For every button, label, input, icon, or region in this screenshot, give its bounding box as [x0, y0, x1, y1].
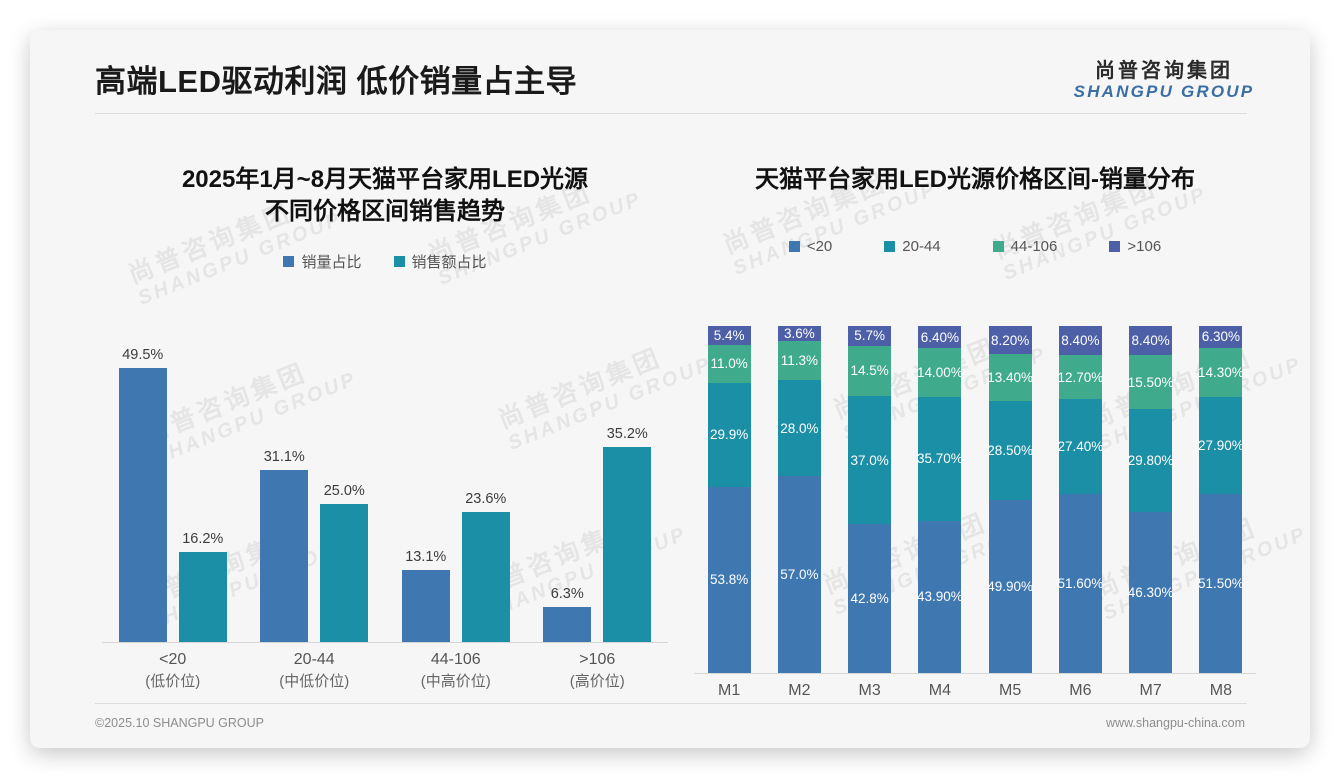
stacked-bar-column: 5.7%14.5%37.0%42.8%	[835, 326, 905, 673]
bar-column: 35.2%	[603, 338, 651, 642]
stacked-segment-<20[interactable]: 53.8%	[708, 487, 751, 674]
legend-swatch-icon	[283, 256, 294, 267]
stacked-bar[interactable]: 3.6%11.3%28.0%57.0%	[778, 326, 821, 673]
bar-销量占比[interactable]	[119, 368, 167, 642]
x-axis-label: M6	[1045, 682, 1115, 700]
left-chart-x-axis-labels: <20(低价位)20-44(中低价位)44-106(中高价位)>106(高价位)	[102, 648, 668, 693]
left-chart-title: 2025年1月~8月天猫平台家用LED光源 不同价格区间销售趋势	[80, 148, 690, 229]
stacked-bar[interactable]: 8.40%12.70%27.40%51.60%	[1059, 326, 1102, 673]
bar-value-label: 13.1%	[405, 549, 446, 565]
stacked-segment->106[interactable]: 5.4%	[708, 326, 751, 345]
stacked-bar-column: 6.40%14.00%35.70%43.90%	[905, 326, 975, 673]
segment-value-label: 37.0%	[850, 453, 888, 468]
x-axis-label: 44-106(中高价位)	[385, 648, 527, 693]
x-axis-label: <20(低价位)	[102, 648, 244, 693]
segment-value-label: 51.60%	[1057, 576, 1103, 591]
right-legend-item-1[interactable]: 20-44	[884, 238, 940, 255]
stacked-segment-20-44[interactable]: 29.9%	[708, 383, 751, 487]
footer-divider	[95, 703, 1247, 704]
x-axis-sublabel: (低价位)	[102, 671, 244, 693]
bar-column: 13.1%	[402, 338, 450, 642]
segment-value-label: 3.6%	[784, 326, 815, 341]
left-legend-item-0[interactable]: 销量占比	[283, 251, 361, 272]
bar-销售额占比[interactable]	[462, 512, 510, 642]
stacked-segment-44-106[interactable]: 14.30%	[1199, 348, 1242, 398]
bar-value-label: 25.0%	[324, 483, 365, 499]
segment-value-label: 28.50%	[987, 443, 1033, 458]
stacked-segment-<20[interactable]: 42.8%	[848, 524, 891, 673]
stacked-bar[interactable]: 5.7%14.5%37.0%42.8%	[848, 326, 891, 673]
logo-chinese-text: 尚普咨询集团	[1064, 60, 1264, 82]
stacked-segment->106[interactable]: 3.6%	[778, 326, 821, 341]
bar-value-label: 31.1%	[264, 449, 305, 465]
stacked-segment-44-106[interactable]: 15.50%	[1129, 355, 1172, 409]
bar-value-label: 35.2%	[607, 426, 648, 442]
stacked-bar[interactable]: 5.4%11.0%29.9%53.8%	[708, 326, 751, 673]
legend-label: 销售额占比	[412, 251, 487, 272]
segment-value-label: 57.0%	[780, 567, 818, 582]
segment-value-label: 29.9%	[710, 427, 748, 442]
left-chart-legend: 销量占比销售额占比	[80, 251, 690, 272]
right-legend-item-2[interactable]: 44-106	[993, 238, 1058, 255]
stacked-bar-column: 5.4%11.0%29.9%53.8%	[694, 326, 764, 673]
bar-value-label: 6.3%	[551, 586, 584, 602]
segment-value-label: 28.0%	[780, 421, 818, 436]
stacked-segment-20-44[interactable]: 37.0%	[848, 396, 891, 524]
legend-label: <20	[807, 238, 832, 255]
segment-value-label: 6.40%	[921, 330, 959, 345]
segment-value-label: 8.20%	[991, 333, 1029, 348]
legend-swatch-icon	[884, 241, 895, 252]
segment-value-label: 14.5%	[850, 363, 888, 378]
legend-label: >106	[1127, 238, 1161, 255]
stacked-bar[interactable]: 8.40%15.50%29.80%46.30%	[1129, 326, 1172, 673]
segment-value-label: 8.40%	[1061, 333, 1099, 348]
bar-group: 49.5%16.2%	[102, 338, 244, 642]
stacked-bar[interactable]: 6.30%14.30%27.90%51.50%	[1199, 326, 1242, 673]
x-axis-sublabel: (高价位)	[527, 671, 669, 693]
legend-swatch-icon	[993, 241, 1004, 252]
stacked-segment-44-106[interactable]: 13.40%	[989, 354, 1032, 401]
segment-value-label: 5.4%	[714, 328, 745, 343]
page-title: 高端LED驱动利润 低价销量占主导	[95, 56, 577, 101]
legend-swatch-icon	[1109, 241, 1120, 252]
right-chart-legend: <2020-4444-106>106	[680, 238, 1270, 255]
x-axis-label: M5	[975, 682, 1045, 700]
grouped-bar-chart: 49.5%16.2%31.1%25.0%13.1%23.6%6.3%35.2%	[102, 338, 668, 643]
x-axis-sublabel: (中高价位)	[385, 671, 527, 693]
legend-swatch-icon	[789, 241, 800, 252]
segment-value-label: 42.8%	[850, 591, 888, 606]
x-axis-label: M3	[835, 682, 905, 700]
bar-销售额占比[interactable]	[320, 504, 368, 642]
stacked-bar-column: 8.20%13.40%28.50%49.90%	[975, 326, 1045, 673]
segment-value-label: 46.30%	[1128, 585, 1174, 600]
left-chart-title-line2: 不同价格区间销售趋势	[80, 196, 690, 228]
stacked-segment->106[interactable]: 5.7%	[848, 326, 891, 346]
stacked-bar-chart: 5.4%11.0%29.9%53.8%3.6%11.3%28.0%57.0%5.…	[694, 326, 1256, 674]
bar-column: 16.2%	[179, 338, 227, 642]
segment-value-label: 6.30%	[1202, 329, 1240, 344]
segment-value-label: 27.90%	[1198, 438, 1244, 453]
footer-website: www.shangpu-china.com	[1106, 716, 1245, 730]
bar-value-label: 49.5%	[122, 347, 163, 363]
x-axis-label: >106(高价位)	[527, 648, 669, 693]
stacked-segment-44-106[interactable]: 11.0%	[708, 345, 751, 383]
x-axis-label: M4	[905, 682, 975, 700]
bar-column: 23.6%	[462, 338, 510, 642]
bar-销量占比[interactable]	[402, 570, 450, 642]
stacked-bar[interactable]: 6.40%14.00%35.70%43.90%	[918, 326, 961, 673]
stacked-bar-column: 8.40%15.50%29.80%46.30%	[1116, 326, 1186, 673]
stacked-segment-<20[interactable]: 46.30%	[1129, 512, 1172, 673]
stacked-segment-<20[interactable]: 43.90%	[918, 521, 961, 673]
stacked-segment-44-106[interactable]: 14.00%	[918, 348, 961, 397]
bar-group: 31.1%25.0%	[244, 338, 386, 642]
segment-value-label: 11.3%	[781, 353, 818, 368]
stacked-segment->106[interactable]: 8.40%	[1129, 326, 1172, 355]
x-axis-line	[102, 642, 668, 643]
slide-header: 高端LED驱动利润 低价销量占主导 尚普咨询集团 SHANGPU GROUP	[30, 30, 1310, 118]
left-legend-item-1[interactable]: 销售额占比	[394, 251, 487, 272]
stacked-segment-20-44[interactable]: 35.70%	[918, 397, 961, 521]
bar-column: 6.3%	[543, 338, 591, 642]
stacked-segment-20-44[interactable]: 28.50%	[989, 401, 1032, 500]
stacked-segment->106[interactable]: 6.40%	[918, 326, 961, 348]
stacked-bar[interactable]: 8.20%13.40%28.50%49.90%	[989, 326, 1032, 673]
segment-value-label: 14.30%	[1198, 365, 1244, 380]
stacked-segment-44-106[interactable]: 14.5%	[848, 346, 891, 396]
stacked-segment-44-106[interactable]: 12.70%	[1059, 355, 1102, 399]
stacked-segment->106[interactable]: 6.30%	[1199, 326, 1242, 348]
stacked-segment-<20[interactable]: 49.90%	[989, 500, 1032, 673]
bar-column: 31.1%	[260, 338, 308, 642]
legend-label: 44-106	[1011, 238, 1058, 255]
stacked-bar-column: 3.6%11.3%28.0%57.0%	[764, 326, 834, 673]
segment-value-label: 53.8%	[710, 572, 748, 587]
x-axis-sublabel: (中低价位)	[244, 671, 386, 693]
bar-销售额占比[interactable]	[603, 447, 651, 642]
stacked-bar-column: 8.40%12.70%27.40%51.60%	[1045, 326, 1115, 673]
stacked-segment-20-44[interactable]: 29.80%	[1129, 409, 1172, 512]
x-axis-label: 20-44(中低价位)	[244, 648, 386, 693]
legend-swatch-icon	[394, 256, 405, 267]
x-axis-label: M2	[764, 682, 834, 700]
bar-销量占比[interactable]	[260, 470, 308, 642]
bar-销售额占比[interactable]	[179, 552, 227, 642]
stacked-segment-<20[interactable]: 51.60%	[1059, 494, 1102, 673]
stacked-segment-20-44[interactable]: 28.0%	[778, 380, 821, 477]
segment-value-label: 43.90%	[917, 589, 963, 604]
stacked-segment-20-44[interactable]: 27.40%	[1059, 399, 1102, 494]
segment-value-label: 12.70%	[1057, 370, 1103, 385]
segment-value-label: 35.70%	[917, 451, 963, 466]
stacked-segment-20-44[interactable]: 27.90%	[1199, 397, 1242, 494]
stacked-bar-column: 6.30%14.30%27.90%51.50%	[1186, 326, 1256, 673]
x-axis-label: M1	[694, 682, 764, 700]
stacked-segment-<20[interactable]: 57.0%	[778, 476, 821, 673]
segment-value-label: 8.40%	[1131, 333, 1169, 348]
right-legend-item-0[interactable]: <20	[789, 238, 832, 255]
left-chart-title-line1: 2025年1月~8月天猫平台家用LED光源	[80, 164, 690, 196]
stacked-segment-<20[interactable]: 51.50%	[1199, 494, 1242, 673]
bar-group: 6.3%35.2%	[527, 338, 669, 642]
segment-value-label: 11.0%	[710, 356, 747, 371]
segment-value-label: 14.00%	[917, 365, 963, 380]
bar-column: 49.5%	[119, 338, 167, 642]
bar-value-label: 16.2%	[182, 531, 223, 547]
right-chart-panel: 天猫平台家用LED光源价格区间-销量分布 <2020-4444-106>106 …	[680, 148, 1270, 708]
x-axis-label: M7	[1116, 682, 1186, 700]
stacked-segment-44-106[interactable]: 11.3%	[778, 341, 821, 380]
bar-column: 25.0%	[320, 338, 368, 642]
segment-value-label: 27.40%	[1057, 439, 1103, 454]
slide: 尚普咨询集团SHANGPU GROUP 尚普咨询集团SHANGPU GROUP …	[30, 30, 1310, 748]
segment-value-label: 29.80%	[1128, 453, 1174, 468]
header-divider	[95, 113, 1247, 114]
logo-english-text: SHANGPU GROUP	[1064, 82, 1264, 102]
footer-copyright: ©2025.10 SHANGPU GROUP	[95, 716, 264, 730]
segment-value-label: 49.90%	[987, 579, 1033, 594]
stacked-segment->106[interactable]: 8.20%	[989, 326, 1032, 354]
bar-group: 13.1%23.6%	[385, 338, 527, 642]
right-chart-x-axis-labels: M1M2M3M4M5M6M7M8	[694, 682, 1256, 700]
legend-label: 20-44	[902, 238, 940, 255]
segment-value-label: 13.40%	[987, 370, 1033, 385]
brand-logo: 尚普咨询集团 SHANGPU GROUP	[1064, 60, 1264, 102]
segment-value-label: 51.50%	[1198, 576, 1244, 591]
right-chart-title: 天猫平台家用LED光源价格区间-销量分布	[680, 148, 1270, 196]
segment-value-label: 15.50%	[1128, 375, 1174, 390]
segment-value-label: 5.7%	[854, 328, 885, 343]
right-legend-item-3[interactable]: >106	[1109, 238, 1161, 255]
x-axis-line	[694, 673, 1256, 674]
x-axis-label: M8	[1186, 682, 1256, 700]
stacked-segment->106[interactable]: 8.40%	[1059, 326, 1102, 355]
bar-value-label: 23.6%	[465, 491, 506, 507]
legend-label: 销量占比	[301, 251, 361, 272]
bar-销量占比[interactable]	[543, 607, 591, 642]
left-chart-panel: 2025年1月~8月天猫平台家用LED光源 不同价格区间销售趋势 销量占比销售额…	[80, 148, 690, 708]
